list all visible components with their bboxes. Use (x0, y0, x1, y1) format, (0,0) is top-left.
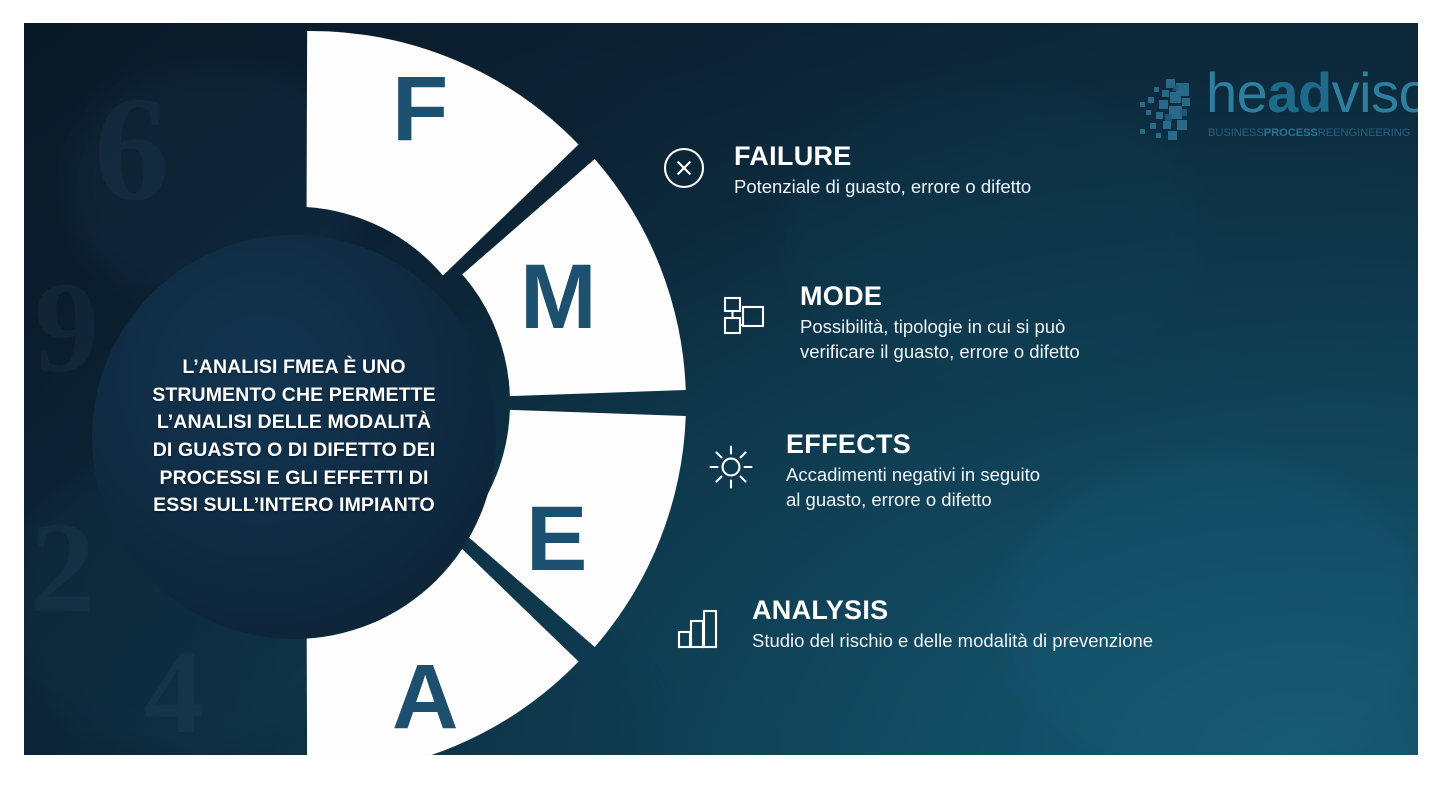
item-title-failure: FAILURE (734, 141, 1031, 171)
tagline-part-process: PROCESS (1264, 127, 1318, 139)
dark-panel: 6 9 2 4 F M (24, 23, 1418, 755)
item-title-effects: EFFECTS (786, 429, 1040, 459)
tagline-part-business: BUSINESS (1208, 127, 1264, 139)
wheel-letter-e: E (526, 493, 587, 585)
item-title-mode: MODE (800, 281, 1080, 311)
tagline-part-reengineering: REENGINEERING (1318, 127, 1411, 139)
circle-x-icon (656, 145, 712, 191)
item-description-effects: Accadimenti negativi in seguito al guast… (786, 463, 1040, 512)
logo-word-part2: ad (1267, 61, 1331, 124)
list-item-analysis: ANALYSIS Studio del rischio e delle moda… (672, 595, 1153, 654)
logo-word-part1: he (1206, 61, 1267, 124)
wheel-letter-m: M (520, 251, 597, 343)
list-item-effects: EFFECTS Accadimenti negativi in seguito … (702, 429, 1040, 512)
pixelated-head-icon (1132, 71, 1206, 145)
logo-tagline: BUSINESSPROCESSREENGINEERING (1208, 127, 1410, 139)
item-description-mode: Possibilità, tipologie in cui si può ver… (800, 315, 1080, 364)
center-description: L’ANALISI FMEA È UNO STRUMENTO CHE PERME… (124, 354, 464, 520)
modules-squares-icon (716, 293, 772, 339)
item-title-analysis: ANALYSIS (752, 595, 1153, 625)
list-item-mode: MODE Possibilità, tipologie in cui si pu… (716, 281, 1080, 364)
infographic-canvas: 6 9 2 4 F M (0, 0, 1440, 810)
headvisor-logo[interactable]: headvisor BUSINESSPROCESSREENGINEERING (1132, 67, 1418, 149)
center-circle: L’ANALISI FMEA È UNO STRUMENTO CHE PERME… (92, 235, 496, 639)
wheel-letter-f: F (392, 63, 448, 155)
item-description-failure: Potenziale di guasto, errore o difetto (734, 175, 1031, 199)
logo-word-part3: visor (1332, 61, 1418, 124)
list-item-failure: FAILURE Potenziale di guasto, errore o d… (656, 141, 1031, 200)
bar-chart-icon (672, 605, 728, 651)
logo-wordmark: headvisor (1206, 65, 1418, 121)
sun-brightness-icon (702, 443, 760, 491)
item-description-analysis: Studio del rischio e delle modalità di p… (752, 629, 1153, 653)
wheel-letter-a: A (392, 651, 458, 743)
